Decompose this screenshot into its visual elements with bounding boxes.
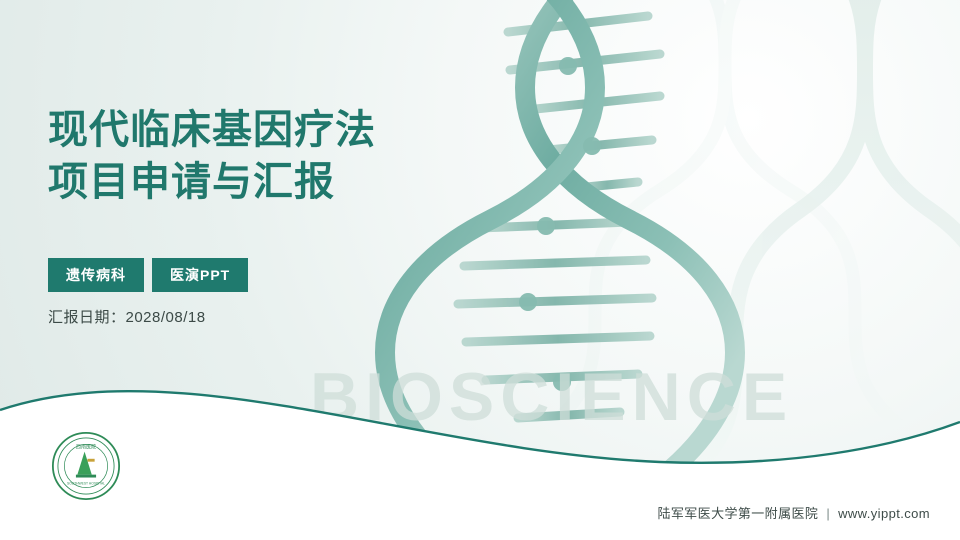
svg-text:西南医院: 西南医院 <box>76 444 96 451</box>
tag-group: 遗传病科 医演PPT <box>48 258 248 292</box>
page-title: 现代临床基因疗法 项目申请与汇报 <box>48 104 376 208</box>
slide-root: BIOSCIENCE 现代临床基因疗法 项目申请与汇报 遗传病科 医演PPT 汇… <box>0 0 960 540</box>
footer-text: 陆军军医大学第一附属医院 | www.yippt.com <box>657 503 930 522</box>
hospital-logo-icon: 西南医院 SOUTHWEST HOSPITAL <box>50 430 122 502</box>
title-line-1: 现代临床基因疗法 <box>48 104 376 156</box>
footer-org: 陆军军医大学第一附属医院 <box>657 506 818 521</box>
tag-brand: 医演PPT <box>152 258 248 292</box>
tag-department: 遗传病科 <box>48 258 144 292</box>
title-line-2: 项目申请与汇报 <box>48 156 376 208</box>
svg-text:SOUTHWEST HOSPITAL: SOUTHWEST HOSPITAL <box>67 482 105 486</box>
report-date: 汇报日期：2028/08/18 <box>48 306 206 327</box>
footer-site: www.yippt.com <box>838 506 930 521</box>
footer-separator: | <box>826 506 830 521</box>
